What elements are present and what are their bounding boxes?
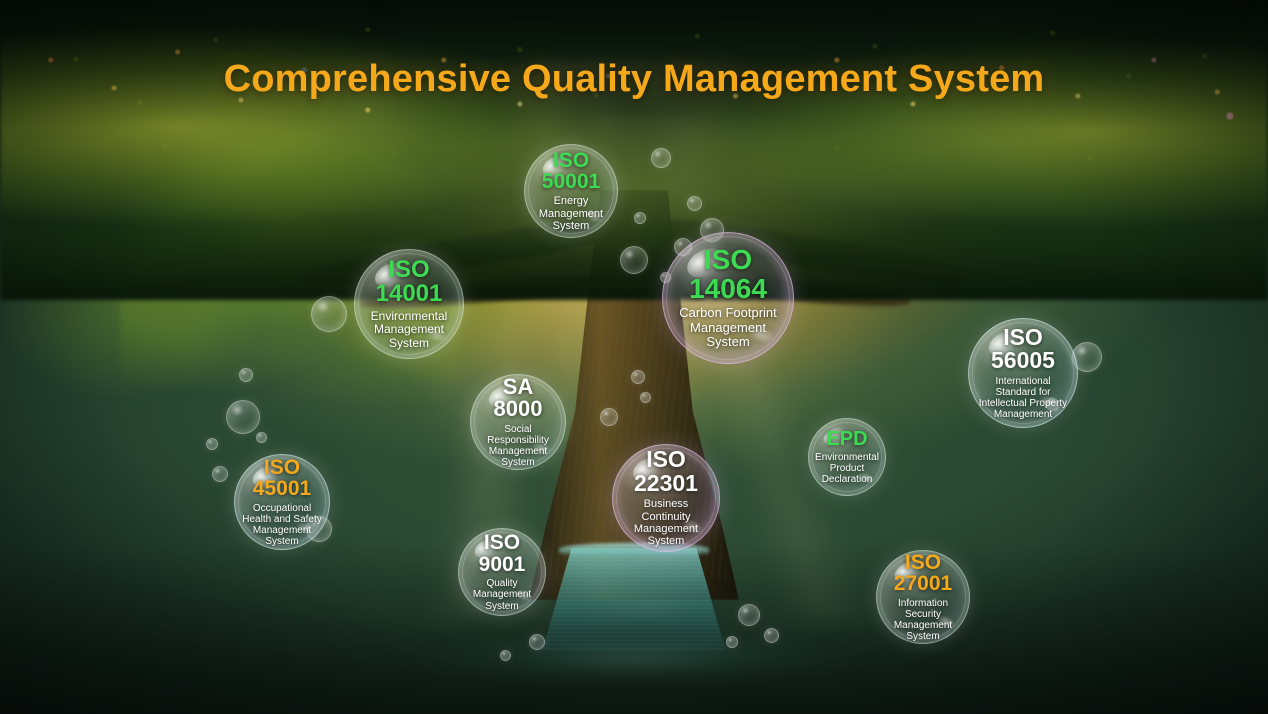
floating-bubble-icon <box>640 392 651 403</box>
floating-bubble-icon <box>226 400 260 434</box>
standard-description-label: Information Security Management System <box>877 598 969 643</box>
floating-bubble-icon <box>631 370 645 384</box>
standard-code-label: ISO 45001 <box>253 457 311 500</box>
standard-bubble-iso-56005[interactable]: ISO 56005International Standard for Inte… <box>968 318 1078 428</box>
standard-bubble-iso-14001[interactable]: ISO 14001Environmental Management System <box>354 249 464 359</box>
standard-code-label: ISO 14001 <box>376 258 443 307</box>
water-pool <box>354 640 914 700</box>
standard-bubble-sa-8000[interactable]: SA 8000Social Responsibility Management … <box>470 374 566 470</box>
standard-bubble-epd[interactable]: EPDEnvironmental Product Declaration <box>808 418 886 496</box>
standard-description-label: International Standard for Intellectual … <box>969 376 1077 421</box>
floating-bubble-icon <box>687 196 702 211</box>
standard-description-label: Social Responsibility Management System <box>471 424 565 469</box>
standard-description-label: Occupational Health and Safety Managemen… <box>235 503 329 548</box>
floating-bubble-icon <box>206 438 218 450</box>
floating-bubble-icon <box>651 148 671 168</box>
standard-description-label: Environmental Product Declaration <box>809 452 885 486</box>
slide-canvas: Comprehensive Quality Management System … <box>0 0 1268 714</box>
floating-bubble-icon <box>620 246 648 274</box>
leaf-texture-layer <box>0 0 1268 330</box>
floating-bubble-icon <box>738 604 760 626</box>
standard-bubble-iso-14064[interactable]: ISO 14064Carbon Footprint Management Sys… <box>662 232 794 364</box>
standard-bubble-iso-50001[interactable]: ISO 50001Energy Management System <box>524 144 618 238</box>
standard-code-label: ISO 9001 <box>479 532 526 575</box>
waterfall <box>542 548 726 652</box>
standard-code-label: SA 8000 <box>494 376 543 421</box>
standard-description-label: Energy Management System <box>525 195 617 232</box>
standard-description-label: Quality Management System <box>459 578 545 612</box>
floating-bubble-icon <box>212 466 228 482</box>
standard-code-label: ISO 50001 <box>542 150 600 193</box>
standard-code-label: ISO 56005 <box>991 326 1055 373</box>
floating-bubble-icon <box>529 634 545 650</box>
standard-bubble-iso-27001[interactable]: ISO 27001Information Security Management… <box>876 550 970 644</box>
floating-bubble-icon <box>256 432 267 443</box>
floating-bubble-icon <box>764 628 779 643</box>
standard-bubble-iso-45001[interactable]: ISO 45001Occupational Health and Safety … <box>234 454 330 550</box>
standard-code-label: ISO 22301 <box>634 448 698 495</box>
floating-bubble-icon <box>600 408 618 426</box>
standard-description-label: Environmental Management System <box>355 310 463 350</box>
standard-code-label: EPD <box>826 429 867 449</box>
floating-bubble-icon <box>311 296 347 332</box>
standard-bubble-iso-22301[interactable]: ISO 22301Business Continuity Management … <box>612 444 720 552</box>
floating-bubble-icon <box>726 636 738 648</box>
page-title: Comprehensive Quality Management System <box>0 58 1268 101</box>
standard-code-label: ISO 14064 <box>689 246 767 303</box>
floating-bubble-icon <box>239 368 253 382</box>
floating-bubble-icon <box>634 212 646 224</box>
standard-bubble-iso-9001[interactable]: ISO 9001Quality Management System <box>458 528 546 616</box>
standard-code-label: ISO 27001 <box>894 552 952 595</box>
standard-description-label: Carbon Footprint Management System <box>663 306 793 350</box>
floating-bubble-icon <box>500 650 511 661</box>
standard-description-label: Business Continuity Management System <box>613 498 719 547</box>
